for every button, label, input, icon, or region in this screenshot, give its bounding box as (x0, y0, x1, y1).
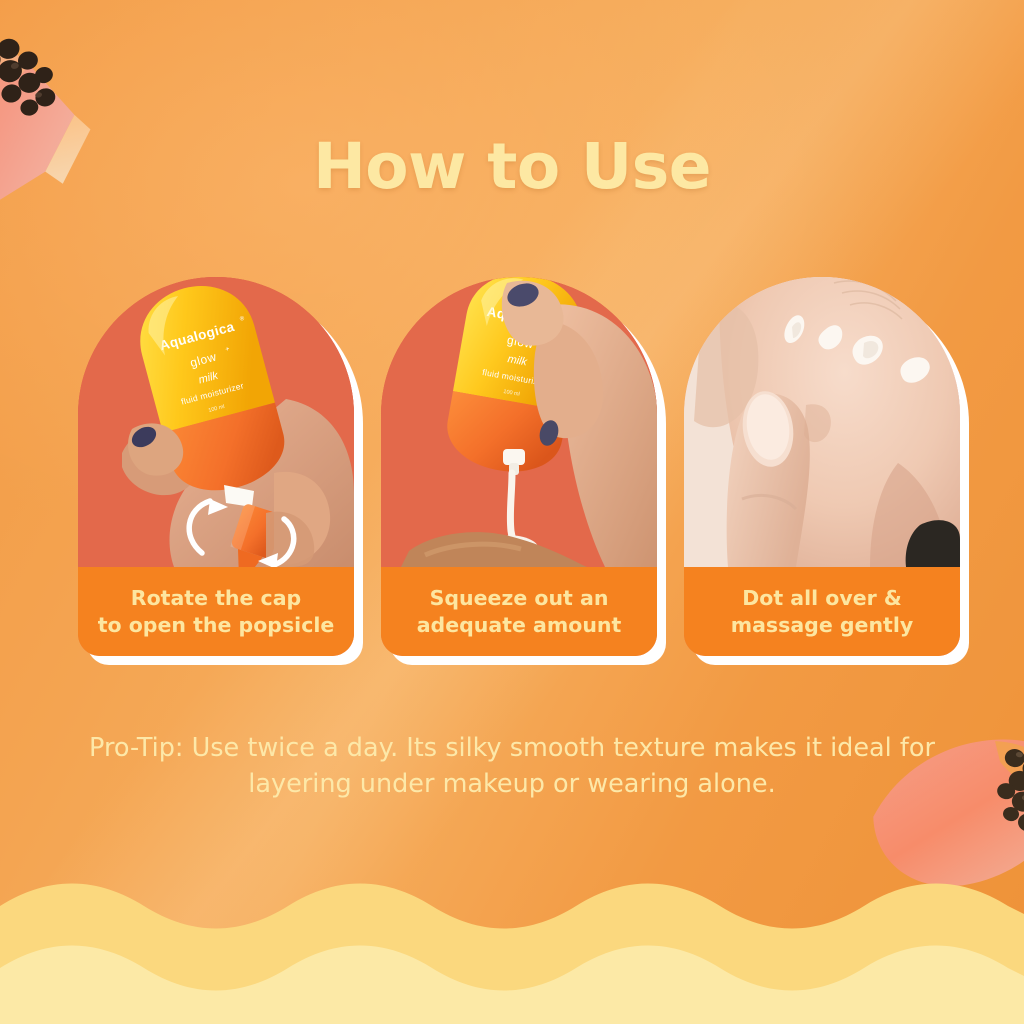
step-image-squeeze-bottle: Aqualogica ® glow + milk fluid moisturiz… (381, 277, 657, 567)
step-card-1[interactable]: Aqualogica ® glow + milk fluid moisturiz… (78, 277, 354, 660)
step-caption-3: Dot all over & massage gently (684, 567, 960, 656)
caption-line-1: Dot all over & (742, 585, 902, 611)
page-title: How to Use (0, 130, 1024, 203)
step-caption-2: Squeeze out an adequate amount (381, 567, 657, 656)
card-body: Aqualogica ® glow + milk fluid moisturiz… (381, 277, 657, 656)
step-caption-1: Rotate the cap to open the popsicle (78, 567, 354, 656)
caption-line-1: Rotate the cap (131, 585, 301, 611)
card-body: Dot all over & massage gently (684, 277, 960, 656)
caption-line-1: Squeeze out an (430, 585, 609, 611)
caption-line-2: to open the popsicle (98, 612, 335, 638)
step-image-dot-and-massage (684, 277, 960, 567)
promo-graphic-canvas: How to Use (0, 0, 1024, 1024)
bottom-wave-decoration (0, 864, 1024, 1024)
pro-tip-text: Pro-Tip: Use twice a day. Its silky smoo… (84, 730, 940, 802)
pro-tip-line-1: Pro-Tip: Use twice a day. Its silky smoo… (84, 730, 940, 766)
step-card-3[interactable]: Dot all over & massage gently (684, 277, 960, 660)
card-body: Aqualogica ® glow + milk fluid moisturiz… (78, 277, 354, 656)
caption-line-2: adequate amount (417, 612, 622, 638)
pro-tip-line-2: layering under makeup or wearing alone. (84, 766, 940, 802)
caption-line-2: massage gently (731, 612, 914, 638)
step-image-rotate-cap: Aqualogica ® glow + milk fluid moisturiz… (78, 277, 354, 567)
steps-row: Aqualogica ® glow + milk fluid moisturiz… (78, 277, 960, 660)
step-card-2[interactable]: Aqualogica ® glow + milk fluid moisturiz… (381, 277, 657, 660)
